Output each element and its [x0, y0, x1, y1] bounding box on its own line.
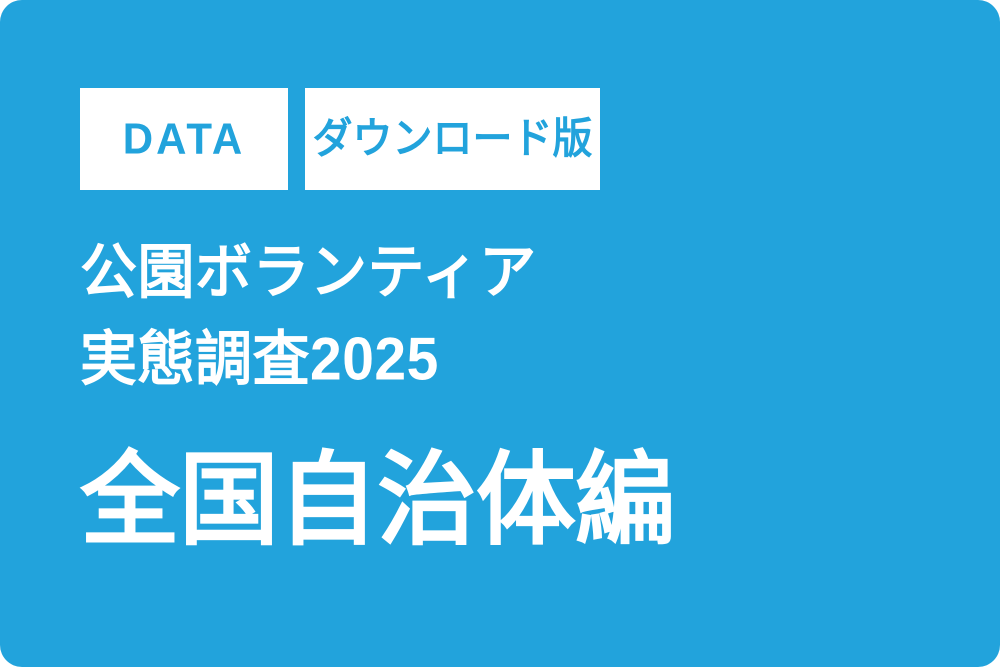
- main-title: 全国自治体編: [80, 450, 674, 552]
- subtitle-line-1: 公園ボランティア: [80, 243, 940, 303]
- subtitle-line-2: 実態調査2025: [80, 330, 940, 390]
- badge-download-edition: ダウンロード版: [305, 88, 600, 190]
- badge-row: DATA ダウンロード版: [80, 88, 600, 190]
- badge-data-label: DATA: [123, 117, 245, 161]
- headline-block: 公園ボランティア 実態調査2025: [80, 243, 940, 387]
- poster-canvas: DATA ダウンロード版 公園ボランティア 実態調査2025 全国自治体編: [0, 0, 1000, 667]
- blue-card-background: DATA ダウンロード版 公園ボランティア 実態調査2025 全国自治体編: [0, 0, 1000, 667]
- badge-download-label: ダウンロード版: [313, 118, 593, 160]
- badge-data: DATA: [80, 88, 288, 190]
